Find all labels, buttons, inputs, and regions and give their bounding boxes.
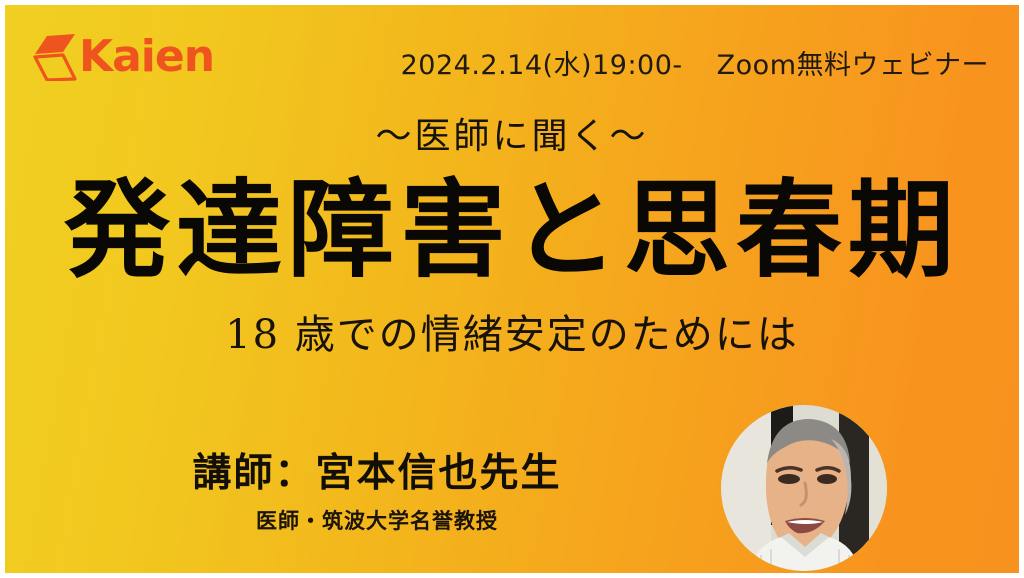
event-info-row: 2024.2.14(水)19:00- Zoom無料ウェビナー — [401, 43, 989, 82]
event-channel: Zoom無料ウェビナー — [717, 43, 989, 82]
speaker-name: 講師：宮本信也先生 — [65, 453, 689, 496]
speaker-credentials: 医師・筑波大学名誉教授 — [65, 510, 689, 533]
kaien-logo[interactable]: Kaien — [33, 33, 214, 81]
webinar-banner: Kaien 2024.2.14(水)19:00- Zoom無料ウェビナー 〜医師… — [0, 0, 1024, 578]
headline-eyebrow: 〜医師に聞く〜 — [5, 117, 1019, 157]
headline-subtitle: 18 歳での情緒安定のためには — [5, 311, 1019, 359]
headline-block: 〜医師に聞く〜 発達障害と思春期 18 歳での情緒安定のためには — [5, 117, 1019, 359]
kaien-mark-icon — [33, 33, 77, 81]
speaker-portrait — [721, 405, 887, 571]
page-title: 発達障害と思春期 — [5, 171, 1019, 290]
speaker-block: 講師：宮本信也先生 医師・筑波大学名誉教授 — [65, 453, 689, 533]
event-datetime: 2024.2.14(水)19:00- — [401, 43, 683, 82]
kaien-wordmark: Kaien — [79, 35, 214, 79]
